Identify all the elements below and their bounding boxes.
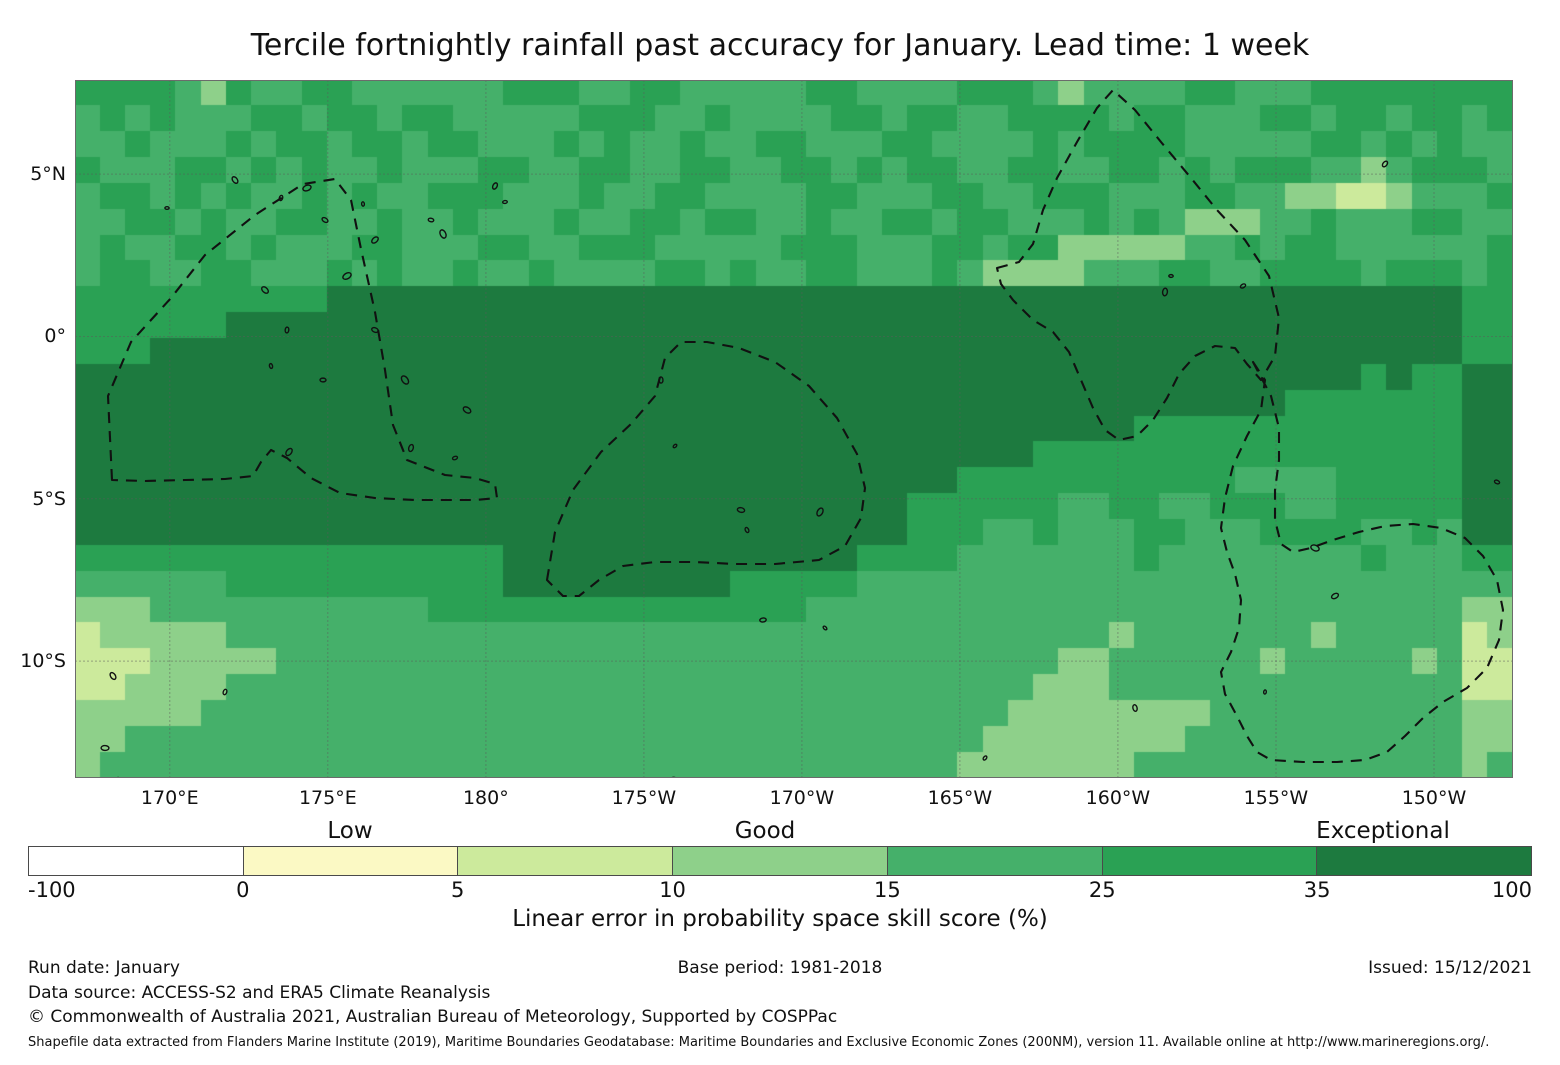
colorbar-segment [458, 847, 673, 875]
colorbar-segment [673, 847, 888, 875]
colorbar-tick-labels: -1000510152535100 [0, 878, 1560, 904]
run-date-text: Run date: January [28, 958, 180, 978]
colorbar-tick-label: 10 [659, 878, 686, 902]
colorbar-tick-label: 100 [1492, 878, 1532, 902]
y-tick-label: 0° [44, 325, 66, 347]
x-tick-label: 175°E [299, 787, 357, 809]
colorbar-category-low: Low [327, 818, 372, 844]
colorbar-category-good: Good [735, 818, 796, 844]
map-plot-area [75, 80, 1513, 778]
colorbar [28, 846, 1532, 876]
x-tick-label: 150°W [1402, 787, 1467, 809]
colorbar-tick-label: 25 [1089, 878, 1116, 902]
colorbar-segment [1103, 847, 1318, 875]
x-tick-label: 155°W [1244, 787, 1309, 809]
y-tick-label: 5°N [30, 163, 66, 185]
colorbar-category-labels: LowGoodExceptional [0, 818, 1560, 844]
copyright-text: © Commonwealth of Australia 2021, Austra… [28, 1007, 837, 1027]
x-tick-label: 180° [463, 787, 509, 809]
colorbar-segment [888, 847, 1103, 875]
shapefile-attribution-text: Shapefile data extracted from Flanders M… [28, 1035, 1489, 1050]
issued-date-text: Issued: 15/12/2021 [1368, 958, 1532, 978]
y-tick-label: 5°S [32, 488, 66, 510]
skill-score-heatmap [75, 80, 1513, 778]
colorbar-tick-label: 0 [236, 878, 249, 902]
colorbar-title: Linear error in probability space skill … [0, 906, 1560, 932]
colorbar-tick-label: -100 [28, 878, 76, 902]
data-source-text: Data source: ACCESS-S2 and ERA5 Climate … [28, 983, 490, 1003]
x-tick-label: 175°W [612, 787, 677, 809]
colorbar-tick-label: 35 [1304, 878, 1331, 902]
colorbar-segment [244, 847, 459, 875]
colorbar-category-exceptional: Exceptional [1316, 818, 1450, 844]
colorbar-tick-label: 5 [451, 878, 464, 902]
page-title: Tercile fortnightly rainfall past accura… [0, 28, 1560, 63]
x-tick-label: 160°W [1086, 787, 1151, 809]
colorbar-segment [1317, 847, 1531, 875]
colorbar-segment [29, 847, 244, 875]
x-tick-label: 170°E [141, 787, 199, 809]
base-period-text: Base period: 1981-2018 [678, 958, 883, 978]
colorbar-tick-label: 15 [874, 878, 901, 902]
x-tick-label: 170°W [770, 787, 835, 809]
x-tick-label: 165°W [928, 787, 993, 809]
y-tick-label: 10°S [20, 650, 66, 672]
